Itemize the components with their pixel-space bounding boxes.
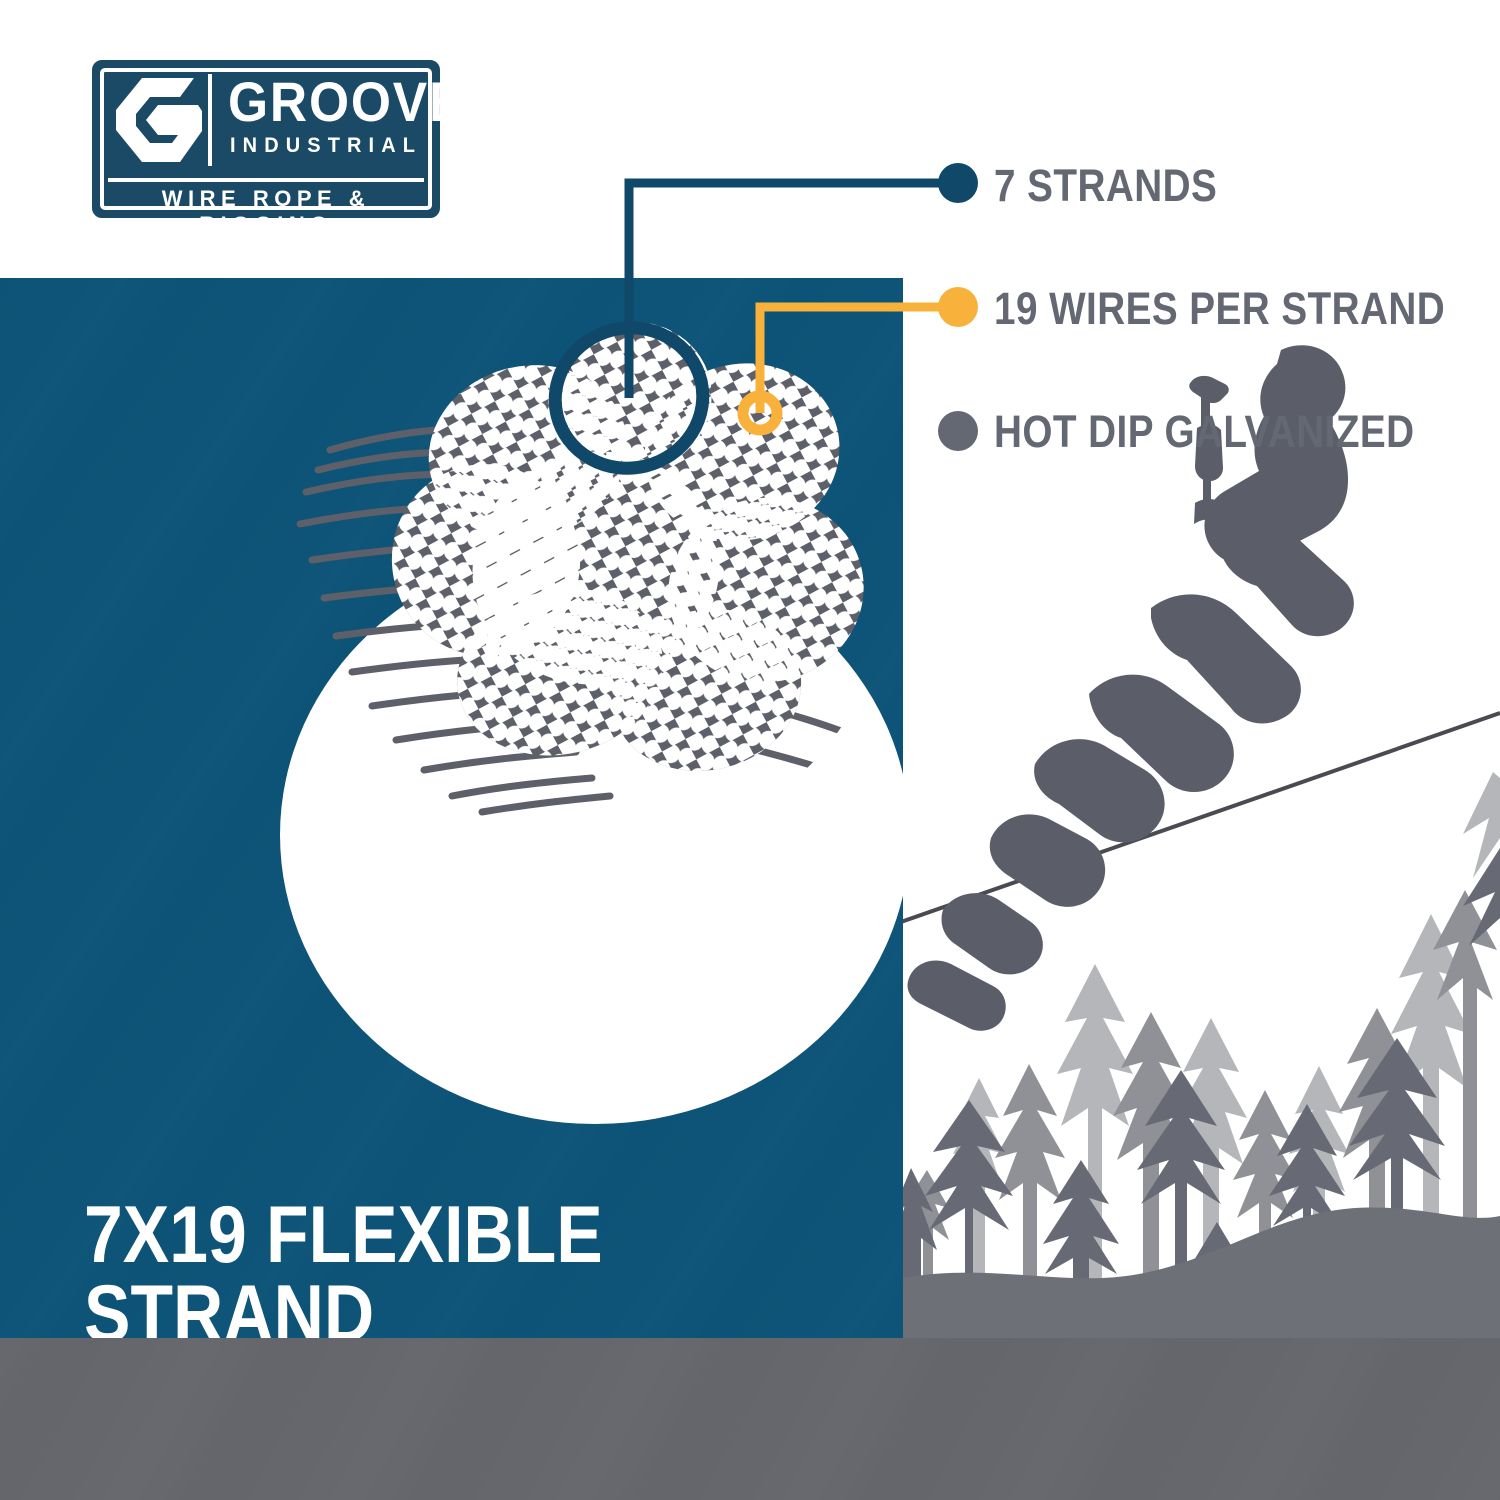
- callout-label-galvanized: HOT DIP GALVANIZED: [994, 406, 1415, 458]
- logo-subtitle: INDUSTRIAL: [230, 134, 422, 158]
- brand-logo[interactable]: GROOVE INDUSTRIAL WIRE ROPE & RIGGING: [92, 60, 440, 218]
- infographic-root: GROOVE INDUSTRIAL WIRE ROPE & RIGGING 7X…: [0, 0, 1500, 1500]
- logo-tagline: WIRE ROPE & RIGGING: [92, 186, 440, 238]
- grey-band-stripes: [0, 1338, 1500, 1500]
- callout-label-strands: 7 STRANDS: [994, 160, 1217, 212]
- diagram-circle-backdrop: [280, 546, 903, 1124]
- groove-g-icon: [116, 78, 202, 162]
- logo-wordmark: GROOVE: [228, 72, 465, 132]
- logo-divider: [108, 178, 424, 182]
- foreground-ridge: [903, 1207, 1500, 1338]
- teal-content-panel: 7X19 FLEXIBLE STRAND CONSTRUCTION Our ai…: [0, 278, 903, 1338]
- callout-dot-strands: [938, 163, 978, 203]
- page-title: 7X19 FLEXIBLE STRAND CONSTRUCTION: [84, 1196, 763, 1338]
- bottom-grey-band: [0, 1338, 1500, 1500]
- callout-label-wires: 19 WIRES PER STRAND: [994, 283, 1445, 335]
- logo-g-panel: [108, 74, 212, 166]
